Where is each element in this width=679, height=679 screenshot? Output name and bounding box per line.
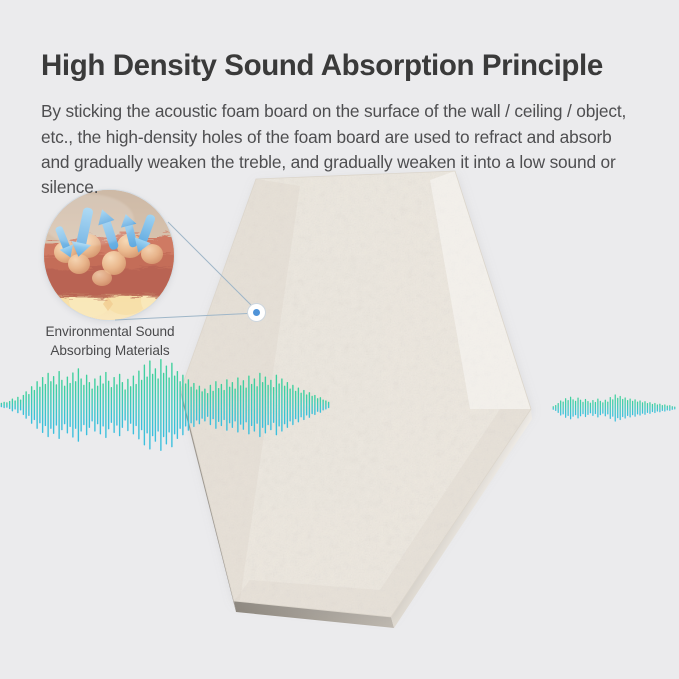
waveform-bar xyxy=(610,397,611,419)
waveform-bar xyxy=(182,375,183,436)
waveform-bar xyxy=(328,402,329,408)
waveform-bar xyxy=(262,382,263,428)
waveform-bar xyxy=(221,384,222,426)
waveform-bar xyxy=(639,400,640,415)
waveform-bar xyxy=(317,398,318,412)
waveform-bar xyxy=(248,376,249,435)
waveform-bar xyxy=(36,381,37,429)
waveform-bar xyxy=(102,383,103,426)
waveform-bar xyxy=(570,397,571,420)
waveform-bar xyxy=(69,383,70,427)
waveform-bar xyxy=(649,402,650,414)
waveform-bar xyxy=(47,373,48,437)
waveform-bar xyxy=(157,378,158,431)
waveform-bar xyxy=(155,368,156,442)
waveform-bar xyxy=(243,380,244,430)
waveform-bar xyxy=(83,385,84,425)
waveform-bar xyxy=(298,388,299,423)
waveform-bar xyxy=(592,400,593,416)
waveform-bar xyxy=(642,402,643,413)
waveform-bar xyxy=(662,405,663,411)
waveform-bar xyxy=(632,401,633,415)
waveform-bar xyxy=(647,403,648,413)
waveform-bar xyxy=(627,400,628,416)
waveform-bar xyxy=(654,403,655,413)
waveform-bar xyxy=(617,398,618,419)
waveform-bar xyxy=(625,397,626,418)
panel-shade-left xyxy=(181,179,300,601)
waveform-bar xyxy=(64,386,65,425)
panel-highlight-right xyxy=(430,171,531,409)
waveform-bar xyxy=(67,376,68,433)
panel-face xyxy=(181,171,531,617)
waveform-bar xyxy=(163,373,164,437)
waveform-bar xyxy=(111,387,112,423)
waveform-bar xyxy=(179,381,180,429)
waveform-bar xyxy=(568,400,569,416)
waveform-bar xyxy=(196,389,197,420)
waveform-bar xyxy=(615,394,616,421)
waveform-bar xyxy=(31,386,32,424)
waveform-bar xyxy=(94,378,95,431)
waveform-bar xyxy=(144,365,145,446)
waveform-bar xyxy=(97,386,98,425)
waveform-bar xyxy=(664,404,665,411)
waveform-bar xyxy=(270,380,271,431)
waveform-bar xyxy=(667,406,668,411)
waveform-bar xyxy=(58,371,59,439)
waveform-bar xyxy=(212,391,213,420)
waveform-bar xyxy=(177,371,178,439)
waveform-bar xyxy=(287,382,288,428)
panel-shade-bottom xyxy=(234,409,531,617)
waveform-bar xyxy=(657,404,658,411)
waveform-bar xyxy=(278,383,279,426)
waveform-bar xyxy=(580,400,581,417)
panel-texture-fine xyxy=(181,171,531,617)
waveform-bar xyxy=(28,394,29,416)
waveform-bar xyxy=(86,375,87,436)
waveform-bar xyxy=(193,383,194,427)
waveform-bar xyxy=(3,402,4,408)
waveform-bar xyxy=(300,393,301,418)
waveform-bar xyxy=(138,371,139,440)
waveform-bar xyxy=(311,396,312,414)
waveform-bar xyxy=(320,397,321,413)
waveform-bar xyxy=(597,399,598,418)
waveform-bar xyxy=(637,402,638,415)
waveform-bar xyxy=(146,376,147,433)
waveform-bar xyxy=(303,390,304,420)
panel-edge-bottom xyxy=(234,601,394,628)
leader-line-upper xyxy=(168,222,257,311)
waveform-bar xyxy=(273,387,274,423)
waveform-bar xyxy=(53,376,54,434)
waveform-bar xyxy=(582,402,583,415)
panel-edge-right xyxy=(391,409,532,628)
waveform-bar xyxy=(565,398,566,418)
waveform-bar xyxy=(201,391,202,419)
waveform-bar xyxy=(669,405,670,411)
waveform-bar xyxy=(251,384,252,426)
waveform-bar xyxy=(124,389,125,420)
waveform-bar xyxy=(577,398,578,419)
waveform-bar xyxy=(267,385,268,425)
waveform-bar xyxy=(265,376,266,433)
magnifier-caption-line-2: Absorbing Materials xyxy=(12,341,208,360)
waveform-bar xyxy=(23,395,24,415)
waveform-bar xyxy=(61,380,62,431)
waveform-bar xyxy=(322,399,323,410)
waveform-bar xyxy=(210,385,211,425)
waveform-bar xyxy=(113,377,114,433)
waveform-bar xyxy=(306,394,307,415)
waveform-bar xyxy=(289,388,290,421)
waveform-bar xyxy=(133,376,134,435)
waveform-bar xyxy=(75,381,76,429)
waveform-bar xyxy=(91,388,92,421)
waveform-bar xyxy=(152,374,153,437)
waveform-bar xyxy=(622,399,623,417)
waveform-bar xyxy=(587,401,588,415)
waveform-bar xyxy=(199,386,200,425)
panel-outline xyxy=(181,171,531,617)
waveform-bar xyxy=(590,403,591,414)
waveform-bar xyxy=(560,400,561,415)
waveform-bar xyxy=(168,377,169,432)
waveform-bar xyxy=(218,388,219,422)
magnifier-glass-sheen xyxy=(44,194,134,246)
waveform-bar xyxy=(276,375,277,436)
waveform-bar xyxy=(674,406,675,409)
waveform-bar xyxy=(188,379,189,431)
waveform-bar xyxy=(259,373,260,437)
waveform-bar xyxy=(672,406,673,410)
waveform-bar xyxy=(80,378,81,431)
waveform-bar xyxy=(234,388,235,421)
page-title: High Density Sound Absorption Principle xyxy=(41,49,651,82)
waveform-bar xyxy=(50,381,51,429)
waveform-bar xyxy=(12,399,13,412)
waveform-bar xyxy=(607,402,608,415)
waveform-bar xyxy=(166,365,167,444)
waveform-bar xyxy=(160,359,161,451)
waveform-bar xyxy=(256,386,257,424)
waveform-attenuated xyxy=(552,378,676,438)
waveform-bar xyxy=(78,368,79,442)
waveform-bar xyxy=(558,403,559,413)
waveform-bar xyxy=(237,377,238,432)
waveform-bar xyxy=(72,372,73,437)
waveform-bar xyxy=(14,400,15,409)
waveform-bar xyxy=(89,382,90,428)
waveform-bar xyxy=(284,386,285,425)
waveform-incoming xyxy=(0,355,330,455)
waveform-bar xyxy=(314,395,315,415)
waveform-bar xyxy=(232,382,233,428)
waveform-bar xyxy=(292,385,293,425)
waveform-bar xyxy=(612,399,613,416)
waveform-bar xyxy=(56,384,57,425)
waveform-bar xyxy=(605,400,606,417)
waveform-bar xyxy=(185,383,186,426)
waveform-bar xyxy=(25,391,26,419)
waveform-bar xyxy=(215,381,216,429)
waveform-bar xyxy=(600,401,601,415)
waveform-bar xyxy=(20,399,21,410)
waveform-bar xyxy=(644,401,645,415)
magnifier-pointer-dot xyxy=(248,304,265,321)
waveform-bar xyxy=(223,390,224,420)
product-infographic: High Density Sound Absorption Principle … xyxy=(0,0,679,679)
magnifier-caption: Environmental Sound Absorbing Materials xyxy=(12,322,208,360)
waveform-bar xyxy=(281,378,282,431)
waveform-bar xyxy=(105,372,106,438)
waveform-bar xyxy=(171,363,172,448)
waveform-bar xyxy=(204,388,205,421)
waveform-bar xyxy=(229,387,230,424)
waveform-bar xyxy=(190,387,191,424)
waveform-bar xyxy=(207,393,208,417)
waveform-bar xyxy=(100,376,101,435)
waveform-bar xyxy=(634,399,635,416)
waveform-bar xyxy=(116,384,117,425)
waveform-bar xyxy=(595,402,596,414)
description-paragraph: By sticking the acoustic foam board on t… xyxy=(41,99,641,200)
waveform-bar xyxy=(39,387,40,424)
waveform-bar xyxy=(34,390,35,420)
waveform-bar xyxy=(45,384,46,426)
magnifier-circle xyxy=(44,190,174,320)
panel-edge-left xyxy=(181,389,236,612)
waveform-bar xyxy=(122,382,123,428)
waveform-bar xyxy=(295,391,296,420)
waveform-bar xyxy=(9,401,10,409)
waveform-bar xyxy=(130,386,131,424)
waveform-bar xyxy=(555,405,556,411)
waveform-bar xyxy=(1,403,2,408)
magnifier-caption-line-1: Environmental Sound xyxy=(12,322,208,341)
waveform-bar xyxy=(149,360,150,449)
waveform-bar xyxy=(141,380,142,431)
waveform-bar xyxy=(254,378,255,431)
waveform-bar xyxy=(42,377,43,433)
waveform-bar xyxy=(309,392,310,418)
waveform-bar xyxy=(240,385,241,425)
waveform-bar xyxy=(575,401,576,415)
waveform-bar xyxy=(245,388,246,423)
waveform-bar xyxy=(585,399,586,417)
waveform-bar xyxy=(174,376,175,435)
waveform-bar xyxy=(563,402,564,415)
waveform-bar xyxy=(659,404,660,413)
waveform-bar xyxy=(602,402,603,413)
waveform-bar xyxy=(325,400,326,409)
waveform-bar xyxy=(17,397,18,414)
waveform-bar xyxy=(630,399,631,418)
panel-texture-coarse xyxy=(181,171,531,617)
waveform-bar xyxy=(572,399,573,416)
waveform-bar xyxy=(108,381,109,430)
waveform-bar xyxy=(652,404,653,412)
waveform-bar xyxy=(620,396,621,420)
waveform-bar xyxy=(135,384,136,426)
waveform-bar xyxy=(119,374,120,437)
waveform-bar xyxy=(6,402,7,408)
waveform-bar xyxy=(127,379,128,431)
waveform-bar xyxy=(553,406,554,410)
waveform-bar xyxy=(226,379,227,431)
